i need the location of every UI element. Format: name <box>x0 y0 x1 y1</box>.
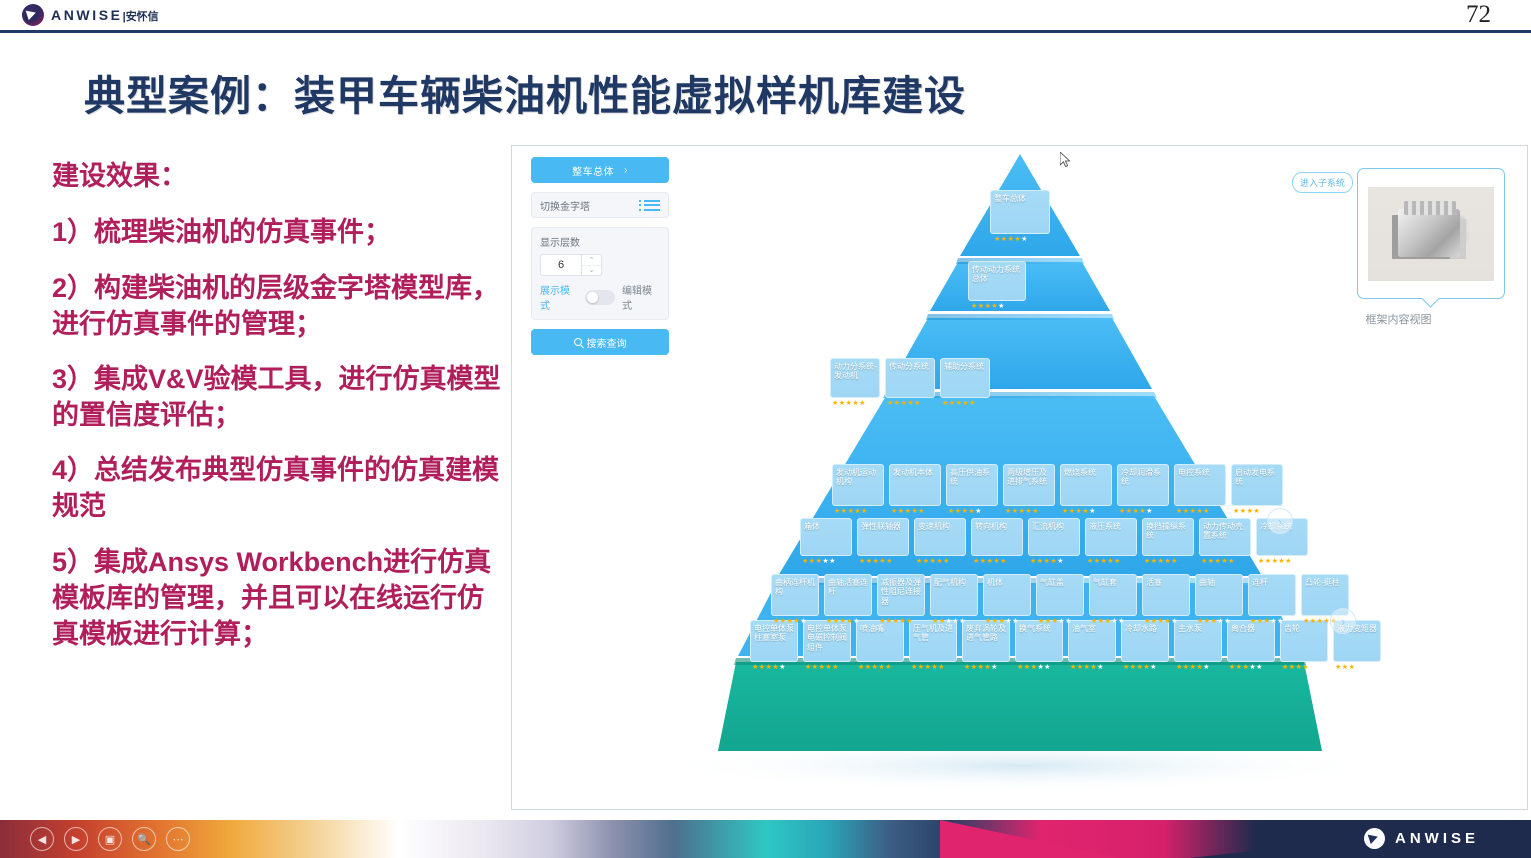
pyramid-node[interactable]: 活塞 <box>1142 574 1190 616</box>
pyramid-node-label: 两级增压及进排气系统 <box>1007 468 1047 486</box>
pyramid-node[interactable]: 弹性联轴器 <box>857 518 909 556</box>
pyramid-node-rating: ★★★★★ <box>805 664 838 671</box>
pyramid-node-label: 配气机构 <box>934 578 966 587</box>
current-scope-button[interactable]: 整车总体 › <box>531 157 669 183</box>
switch-pyramid-label: 切换金字塔 <box>540 198 590 213</box>
pyramid-node[interactable]: 变速机构 <box>914 518 966 556</box>
pyramid-node-rating: ★★★★★ <box>1144 558 1177 565</box>
pyramid-node[interactable]: 曲柄连杆机构 <box>771 574 819 616</box>
pyramid-node-rating: ★★★★★ <box>1258 558 1291 565</box>
pyramid-node-label: 油气室 <box>1072 624 1096 633</box>
pyramid-node-rating: ★★★★★ <box>1176 664 1209 671</box>
pyramid-node[interactable]: 离合器 <box>1227 620 1275 662</box>
anwise-logo-icon <box>1364 828 1385 849</box>
pyramid-node-label: 传动动力系统总体 <box>972 265 1020 283</box>
pyramid-node-rating: ★★★★★ <box>859 558 892 565</box>
pyramid-node[interactable]: 齿轮 <box>1280 620 1328 662</box>
pyramid-node-label: 减振器及弹性阻尼连接器 <box>881 578 921 606</box>
pyramid-node-label: 高压供油系统 <box>950 468 990 486</box>
pyramid-node-rating: ★★★★★ <box>1091 618 1124 625</box>
pyramid-node-rating: ★★★★★ <box>834 508 867 515</box>
pyramid-node[interactable]: 油气室 <box>1068 620 1116 662</box>
pyramid-node[interactable]: 转向机构 <box>971 518 1023 556</box>
pyramid-node-label: 废弃涡轮及进气管路 <box>966 624 1006 642</box>
pyramid-node-label: 曲轴活塞连杆 <box>828 578 868 596</box>
next-level-button-lower[interactable]: › <box>1330 608 1356 634</box>
display-mode-label[interactable]: 展示模式 <box>540 282 578 312</box>
pyramid-node-rating: ★★★★★ <box>971 303 1004 310</box>
pyramid-node-rating: ★★★★★ <box>1030 558 1063 565</box>
pyramid-node-rating: ★★★★★ <box>1123 664 1156 671</box>
pyramid-node-label: 换挡操纵系统 <box>1146 522 1186 540</box>
pyramid-node[interactable]: 气缸盖 <box>1036 574 1084 616</box>
pyramid-node[interactable]: 电控单体泵柱塞室泵 <box>750 620 798 662</box>
pyramid-node-rating: ★★★★★ <box>832 400 865 407</box>
pyramid-node-rating: ★★★★★ <box>802 558 835 565</box>
pyramid-node-rating: ★★★★★ <box>916 558 949 565</box>
current-scope-label: 整车总体 <box>572 163 614 178</box>
pyramid-node[interactable]: 减振器及弹性阻尼连接器 <box>877 574 925 616</box>
pyramid-node-rating: ★★★★★ <box>1017 664 1050 671</box>
pyramid-node[interactable]: 整车总体 <box>990 190 1050 234</box>
pyramid-node[interactable]: 两级增压及进排气系统 <box>1003 464 1055 506</box>
toolbar-accent-shape-2 <box>1190 820 1530 858</box>
page-title: 典型案例：装甲车辆柴油机性能虚拟样机库建设 <box>84 62 966 122</box>
pyramid-control-panel: 整车总体 › 切换金字塔 显示层数 6 ⌃ ⌄ 展示模式 <box>531 157 669 355</box>
zoom-icon[interactable]: 🔍 <box>132 827 156 851</box>
slideshow-icon[interactable]: ▣ <box>98 827 122 851</box>
pyramid-node-label: 箱体 <box>804 522 820 531</box>
pyramid-node[interactable]: 主水泵 <box>1174 620 1222 662</box>
pyramid-node-rating: ★★★★★ <box>1335 664 1368 671</box>
pyramid-node[interactable]: 连杆 <box>1248 574 1296 616</box>
pyramid-node-label: 动力分系统-发动机 <box>834 362 877 380</box>
pyramid-node-label: 凸轮-挺柱 <box>1305 578 1340 587</box>
effect-item-3: 3）集成V&V验模工具，进行仿真模型的置信度评估； <box>52 361 502 433</box>
effect-item-2: 2）构建柴油机的层级金字塔模型库，进行仿真事件的管理； <box>52 270 502 342</box>
pyramid-node[interactable]: 传动动力系统总体 <box>968 261 1026 301</box>
pyramid-node-label: 曲柄连杆机构 <box>775 578 815 596</box>
pyramid-node[interactable]: 换挡操纵系统 <box>1142 518 1194 556</box>
pyramid-node-rating: ★★★★★ <box>942 400 975 407</box>
pyramid-node-label: 喷油嘴 <box>860 624 884 633</box>
footer-brand-text: ANWISE <box>1395 830 1479 847</box>
pyramid-node-label: 转向机构 <box>975 522 1007 531</box>
pyramid-node[interactable]: 曲轴活塞连杆 <box>824 574 872 616</box>
pyramid-node-label: 电控单体泵柱塞室泵 <box>754 624 794 642</box>
prev-icon[interactable]: ◀ <box>30 827 54 851</box>
pyramid-node-label: 电控单体泵电磁控制阀组件 <box>807 624 847 652</box>
pyramid-node-rating: ★★★★★ <box>1070 664 1103 671</box>
edit-mode-label[interactable]: 编辑模式 <box>622 282 660 312</box>
pyramid-node-rating: ★★★★★ <box>973 558 1006 565</box>
pyramid-node-rating: ★★★★★ <box>1119 508 1152 515</box>
pyramid-node-label: 主水泵 <box>1178 624 1202 633</box>
pyramid-node-rating: ★★★★★ <box>1005 508 1038 515</box>
pyramid-node-rating: ★★★★★ <box>932 618 965 625</box>
page-number: 72 <box>1466 1 1491 29</box>
pyramid-node-rating: ★★★★★ <box>911 664 944 671</box>
anwise-logo-icon <box>22 4 44 26</box>
pyramid-node-rating: ★★★★★ <box>1062 508 1095 515</box>
switch-pyramid-row[interactable]: 切换金字塔 <box>531 192 669 218</box>
next-level-button-upper[interactable]: › <box>1267 508 1293 534</box>
pyramid-node[interactable]: 压气机及进气管 <box>909 620 957 662</box>
mode-toggle-switch[interactable] <box>585 290 615 305</box>
effect-item-5: 5）集成Ansys Workbench进行仿真模板库的管理，并且可以在线运行仿真… <box>52 544 502 653</box>
pyramid-node[interactable]: 发动机运动机构 <box>832 464 884 506</box>
pyramid-node-label: 发动机运动机构 <box>836 468 876 486</box>
list-icon[interactable] <box>644 200 660 211</box>
pyramid-node-rating: ★★★★★ <box>985 618 1018 625</box>
pyramid-node-label: 齿轮 <box>1284 624 1300 633</box>
mouse-cursor <box>1060 152 1072 170</box>
pyramid-node[interactable]: 动力传动壳置系统 <box>1199 518 1251 556</box>
preview-card[interactable] <box>1357 168 1505 299</box>
brand-logo-text: ANWISE|安怀信 <box>51 7 159 24</box>
pyramid-node[interactable]: 箱体 <box>800 518 852 556</box>
pyramid-node-rating: ★★★★★ <box>964 664 997 671</box>
pyramid-node[interactable]: 启动发电系统 <box>1231 464 1283 506</box>
brand-logo: ANWISE|安怀信 <box>22 4 159 26</box>
toolbar-nav-icons: ◀ ▶ ▣ 🔍 ⋯ <box>30 827 190 851</box>
pyramid-node[interactable]: 动力分系统-发动机 <box>830 358 880 398</box>
pyramid-node-rating: ★★★★★ <box>948 508 981 515</box>
next-icon[interactable]: ▶ <box>64 827 88 851</box>
enter-subsystem-button[interactable]: 进入子系统 <box>1292 172 1353 193</box>
pyramid-node-rating: ★★★★★ <box>1229 664 1262 671</box>
bottom-toolbar: ◀ ▶ ▣ 🔍 ⋯ ANWISE <box>0 820 1531 858</box>
search-button[interactable]: 搜索查询 <box>531 329 669 355</box>
pyramid-node-label: 冷却润滑系统 <box>1121 468 1161 486</box>
pyramid-node-rating: ★★★★★ <box>752 664 785 671</box>
pyramid-node-rating: ★★★★★ <box>1176 508 1209 515</box>
pyramid-node-label: 发动机本体 <box>893 468 933 477</box>
pyramid-node-label: 机体 <box>987 578 1003 587</box>
pyramid-node-label: 传动分系统 <box>889 362 929 371</box>
engine-thumbnail-image <box>1368 187 1494 281</box>
pyramid-node[interactable]: 汇流机构 <box>1028 518 1080 556</box>
pyramid-node[interactable]: 配气机构 <box>930 574 978 616</box>
brand-name-en: ANWISE <box>51 7 123 23</box>
layers-control-box: 显示层数 6 ⌃ ⌄ 展示模式 编辑模式 <box>531 227 669 320</box>
pyramid-node[interactable]: 废弃涡轮及进气管路 <box>962 620 1010 662</box>
search-icon <box>574 338 582 346</box>
stepper-up-icon[interactable]: ⌃ <box>582 255 601 266</box>
pyramid-node-label: 辅助分系统 <box>944 362 984 371</box>
pyramid-node-rating: ★★★★★ <box>891 508 924 515</box>
pyramid-node-label: 气缸套 <box>1093 578 1117 587</box>
pyramid-node[interactable]: 传动分系统 <box>885 358 935 398</box>
app-screenshot-panel: 整车总体 ★★★★★ 传动动力系统总体 ★★★★★ 动力分系统-发动机 ★★★★… <box>511 145 1528 810</box>
page-header: ANWISE|安怀信 72 <box>0 0 1531 33</box>
pyramid-node-label: 离合器 <box>1231 624 1255 633</box>
effects-heading: 建设效果： <box>52 160 502 192</box>
effect-item-4: 4）总结发布典型仿真事件的仿真建模规范 <box>52 452 502 524</box>
pyramid-node[interactable]: 电控系统 <box>1174 464 1226 506</box>
pyramid-node-label: 弹性联轴器 <box>861 522 901 531</box>
chevron-right-icon: › <box>624 165 628 176</box>
pyramid-node-rating: ★★★★★ <box>1038 618 1071 625</box>
pyramid-node[interactable]: 冷却润滑系统 <box>1117 464 1169 506</box>
toolbar-accent-shape <box>940 820 1120 858</box>
pyramid-node-label: 曲轴 <box>1199 578 1215 587</box>
pyramid-node[interactable]: 燃烧系统 <box>1060 464 1112 506</box>
pyramid-node-rating: ★★★★★ <box>887 400 920 407</box>
effects-list: 建设效果： 1）梳理柴油机的仿真事件； 2）构建柴油机的层级金字塔模型库，进行仿… <box>52 160 502 671</box>
mode-toggle-row[interactable]: 展示模式 编辑模式 <box>540 282 660 312</box>
pyramid-node[interactable]: 发动机本体 <box>889 464 941 506</box>
pyramid-node-label: 压气机及进气管 <box>913 624 953 642</box>
pyramid-node-rating: ★★★★★ <box>858 664 891 671</box>
pyramid-node-rating: ★★★★★ <box>773 618 806 625</box>
pyramid-node[interactable]: 高压供油系统 <box>946 464 998 506</box>
pyramid-node-label: 液压系统 <box>1089 522 1121 531</box>
pyramid-node-label: 启动发电系统 <box>1235 468 1275 486</box>
pyramid-node-rating: ★★★★★ <box>1233 508 1266 515</box>
chevron-right-icon: › <box>1278 514 1282 529</box>
pyramid-node-label: 燃烧系统 <box>1064 468 1096 477</box>
effect-item-1: 1）梳理柴油机的仿真事件； <box>52 214 502 250</box>
preview-caption: 框架内容视图 <box>1365 311 1431 327</box>
pyramid-node-rating: ★★★★★ <box>826 618 859 625</box>
pyramid-node-label: 冷却水路 <box>1125 624 1157 633</box>
pyramid-node-rating: ★★★★★ <box>1201 558 1234 565</box>
pyramid-node-rating: ★★★★★ <box>994 236 1027 243</box>
pyramid-node-label: 变速机构 <box>918 522 950 531</box>
pyramid-node-rating: ★★★★★ <box>1197 618 1230 625</box>
chevron-right-icon: › <box>1341 614 1345 629</box>
pyramid-node[interactable]: 冷却水路 <box>1121 620 1169 662</box>
pyramid-node[interactable]: 喷油嘴 <box>856 620 904 662</box>
pyramid-node-rating: ★★★★★ <box>1144 618 1177 625</box>
layers-value[interactable]: 6 <box>541 255 581 275</box>
stepper-buttons[interactable]: ⌃ ⌄ <box>581 255 601 275</box>
pyramid-node-label: 气缸盖 <box>1040 578 1064 587</box>
pyramid-node[interactable]: 换气系统 <box>1015 620 1063 662</box>
pyramid-node-rating: ★★★★★ <box>879 618 912 625</box>
layers-stepper[interactable]: 6 ⌃ ⌄ <box>540 254 602 276</box>
frame-content-preview: 进入子系统 框架内容视图 <box>1292 168 1505 327</box>
pyramid-node-label: 动力传动壳置系统 <box>1203 522 1243 540</box>
layers-label: 显示层数 <box>540 234 660 249</box>
pyramid-node-label: 活塞 <box>1146 578 1162 587</box>
pyramid-node-label: 电控系统 <box>1178 468 1210 477</box>
pyramid-node[interactable]: 辅助分系统 <box>940 358 990 398</box>
pyramid-node-label: 连杆 <box>1252 578 1268 587</box>
pyramid-node[interactable]: 气缸套 <box>1089 574 1137 616</box>
pyramid-node[interactable]: 曲轴 <box>1195 574 1243 616</box>
pyramid-node-label: 整车总体 <box>994 194 1026 203</box>
pyramid-node-rating: ★★★★★ <box>1282 664 1315 671</box>
pyramid-node-rating: ★★★★★ <box>1087 558 1120 565</box>
footer-brand-logo: ANWISE <box>1364 828 1479 849</box>
pyramid-node-label: 换气系统 <box>1019 624 1051 633</box>
pyramid-node-rating: ★★★★★ <box>1250 618 1283 625</box>
pyramid-node-label: 汇流机构 <box>1032 522 1064 531</box>
brand-name-cn: 安怀信 <box>126 11 159 23</box>
more-icon[interactable]: ⋯ <box>166 827 190 851</box>
search-button-label: 搜索查询 <box>587 335 627 350</box>
pyramid-node[interactable]: 液压系统 <box>1085 518 1137 556</box>
pyramid-node[interactable]: 机体 <box>983 574 1031 616</box>
pyramid-node[interactable]: 电控单体泵电磁控制阀组件 <box>803 620 851 662</box>
stepper-down-icon[interactable]: ⌄ <box>582 266 601 276</box>
